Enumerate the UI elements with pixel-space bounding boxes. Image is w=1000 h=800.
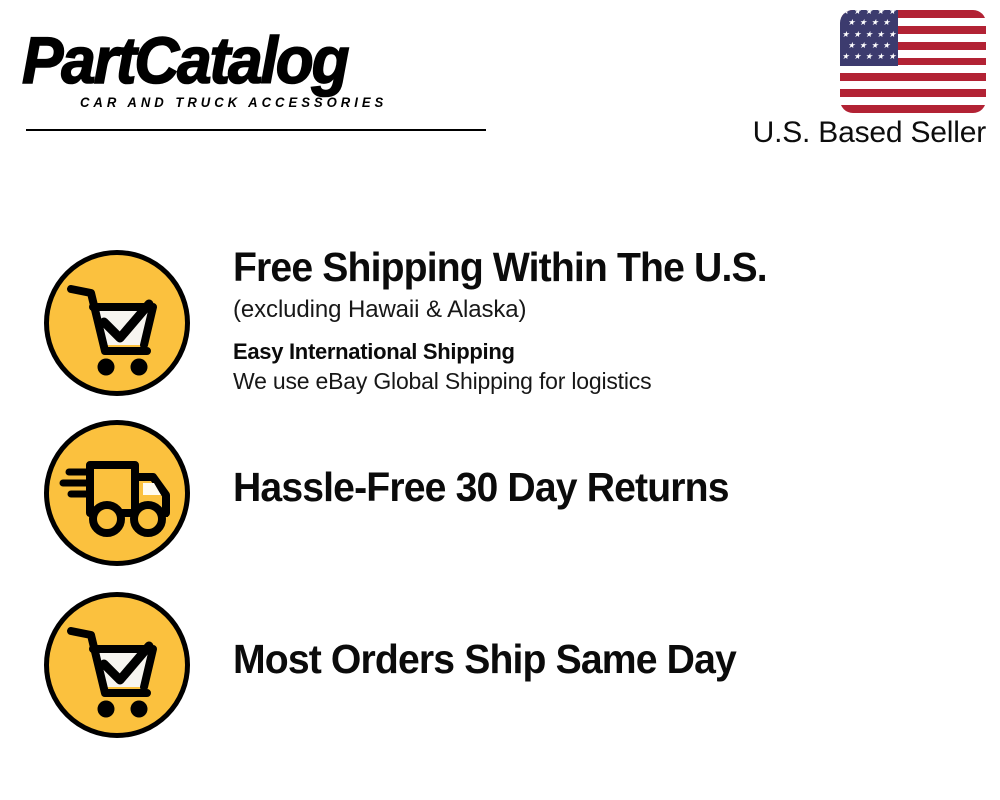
feature-subtext-logistics: We use eBay Global Shipping for logistic…: [233, 368, 792, 395]
feature-text-block: Most Orders Ship Same Day: [233, 592, 760, 681]
flag-stars: [840, 10, 898, 66]
feature-subtext-exclusion: (excluding Hawaii & Alaska): [233, 296, 792, 324]
brand-tagline: CAR AND TRUCK ACCESSORIES: [80, 95, 480, 110]
shopping-cart-check-icon: [44, 592, 190, 738]
shopping-cart-check-icon: [44, 250, 190, 396]
feature-row-free-shipping: Free Shipping Within The U.S. (excluding…: [44, 250, 792, 396]
brand-logo: PartCatalog CAR AND TRUCK ACCESSORIES: [22, 28, 492, 110]
feature-headline: Hassle-Free 30 Day Returns: [233, 466, 729, 509]
us-based-seller-label: U.S. Based Seller: [753, 116, 986, 150]
feature-row-same-day-ship: Most Orders Ship Same Day: [44, 592, 760, 738]
feature-subtext-international: Easy International Shipping: [233, 339, 792, 365]
brand-wordmark: PartCatalog: [22, 28, 464, 93]
feature-text-block: Hassle-Free 30 Day Returns: [233, 420, 752, 509]
us-flag-icon: [840, 10, 986, 113]
delivery-truck-icon: [44, 420, 190, 566]
feature-headline: Most Orders Ship Same Day: [233, 638, 736, 681]
promo-banner: PartCatalog CAR AND TRUCK ACCESSORIES: [0, 0, 1000, 800]
feature-row-returns: Hassle-Free 30 Day Returns: [44, 420, 752, 566]
brand-underline: [26, 129, 486, 131]
feature-headline: Free Shipping Within The U.S.: [233, 246, 767, 289]
flag-graphic: [840, 10, 986, 113]
feature-text-block: Free Shipping Within The U.S. (excluding…: [233, 250, 792, 395]
